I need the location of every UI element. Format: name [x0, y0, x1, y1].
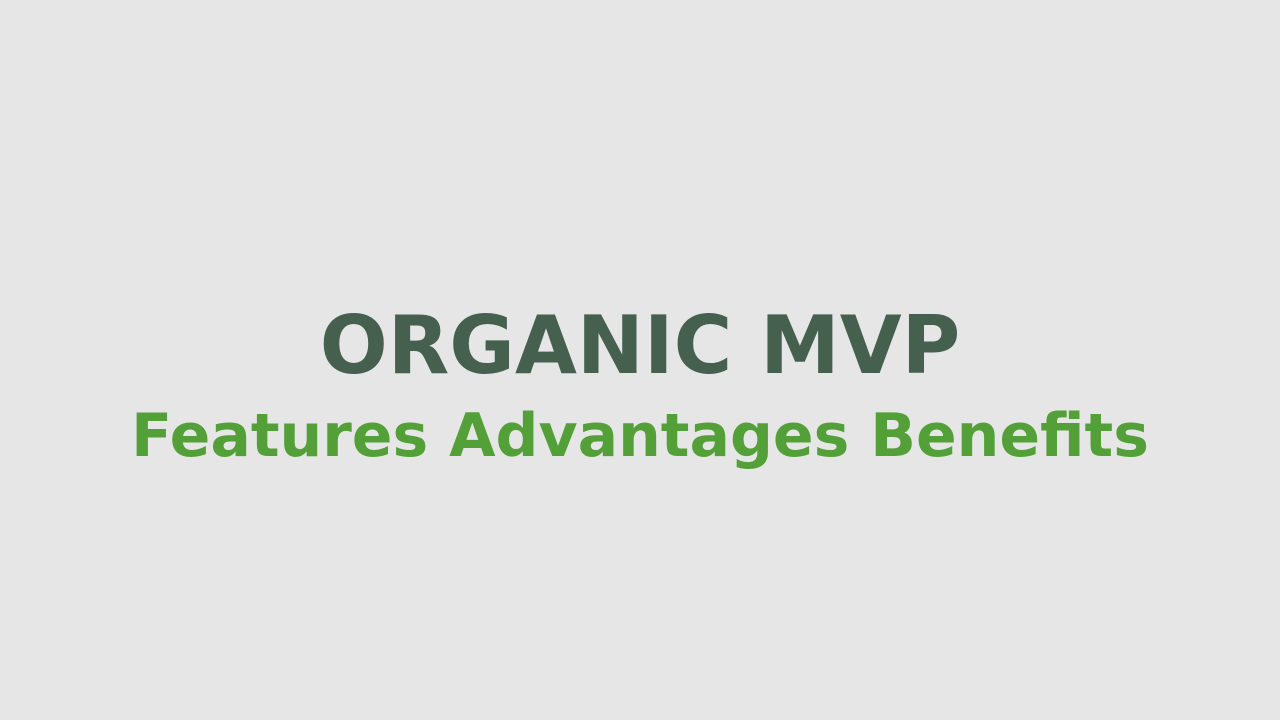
page-title: ORGANIC MVP — [0, 296, 1280, 396]
title-slide: ORGANIC MVP Features Advantages Benefits — [0, 0, 1280, 720]
page-subtitle: Features Advantages Benefits — [0, 398, 1280, 474]
